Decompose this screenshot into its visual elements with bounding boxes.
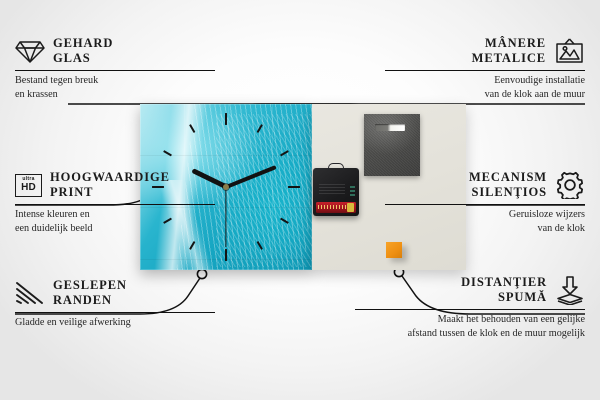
feature-desc-line1: Gladde en veilige afwerking bbox=[15, 316, 215, 330]
feature-header: GEHARD GLAS bbox=[15, 36, 215, 67]
feature-desc-line2: een duidelijk beeld bbox=[15, 222, 215, 236]
feature-title: DISTANŢIER SPUMĂ bbox=[461, 275, 547, 306]
feature-header: GESLEPEN RANDEN bbox=[15, 278, 215, 309]
feature-gehard-glas: GEHARD GLAS Bestand tegen breuk en krass… bbox=[15, 36, 215, 101]
infographic-stage: GEHARD GLAS Bestand tegen breuk en krass… bbox=[0, 0, 600, 400]
feature-header: MECANISM SILENŢIOS bbox=[385, 170, 585, 201]
feature-description: Bestand tegen breuk en krassen bbox=[15, 74, 215, 102]
feature-desc-line1: Bestand tegen breuk bbox=[15, 74, 215, 88]
foam-spacer bbox=[386, 242, 402, 258]
feature-title-line1: MÂNERE bbox=[472, 36, 546, 51]
clock-minute-hand bbox=[225, 165, 276, 189]
feature-desc-line1: Geruisloze wijzers bbox=[385, 208, 585, 222]
feature-title: GESLEPEN RANDEN bbox=[53, 278, 127, 309]
feature-hoogwaardige-print: ultra HD HOOGWAARDIGE PRINT Intense kleu… bbox=[15, 170, 215, 235]
feature-desc-line2: van de klok aan de muur bbox=[385, 88, 585, 102]
mechanism-shaft bbox=[328, 163, 344, 170]
hanger-slot bbox=[375, 124, 405, 131]
feature-description: Gladde en veilige afwerking bbox=[15, 316, 215, 330]
ultra-hd-icon: ultra HD bbox=[15, 174, 42, 197]
feature-title-line2: METALICE bbox=[472, 51, 546, 66]
spacer-layers-icon bbox=[555, 275, 585, 305]
battery bbox=[316, 202, 356, 213]
bevel-lines-icon bbox=[15, 280, 45, 306]
feature-rule bbox=[355, 309, 585, 310]
feature-desc-line1: Intense kleuren en bbox=[15, 208, 215, 222]
feature-header: DISTANŢIER SPUMĂ bbox=[355, 275, 585, 306]
feature-desc-line1: Maakt het behouden van een gelijke bbox=[355, 313, 585, 327]
feature-title-line2: SILENŢIOS bbox=[469, 185, 547, 200]
mechanism-contacts bbox=[350, 184, 355, 196]
feature-title-line2: RANDEN bbox=[53, 293, 127, 308]
feature-title: MECANISM SILENŢIOS bbox=[469, 170, 547, 201]
feature-description: Eenvoudige installatie van de klok aan d… bbox=[385, 74, 585, 102]
ultra-hd-main-label: HD bbox=[21, 183, 36, 193]
feature-title: GEHARD GLAS bbox=[53, 36, 113, 67]
battery-terminal bbox=[347, 203, 354, 212]
feather-sheen-3 bbox=[216, 114, 312, 267]
feature-rule bbox=[15, 312, 215, 313]
feature-header: ultra HD HOOGWAARDIGE PRINT bbox=[15, 170, 215, 201]
feature-desc-line2: en krassen bbox=[15, 88, 215, 102]
metal-hanger-plate bbox=[364, 114, 420, 176]
feature-title: MÂNERE METALICE bbox=[472, 36, 546, 67]
gear-icon bbox=[555, 171, 585, 199]
clock-mechanism bbox=[313, 168, 359, 216]
feature-geslepen-randen: GESLEPEN RANDEN Gladde en veilige afwerk… bbox=[15, 278, 215, 330]
diamond-icon bbox=[15, 38, 45, 64]
feature-description: Intense kleuren en een duidelijk beeld bbox=[15, 208, 215, 236]
feature-title-line1: GESLEPEN bbox=[53, 278, 127, 293]
feature-title-line1: MECANISM bbox=[469, 170, 547, 185]
feature-description: Geruisloze wijzers van de klok bbox=[385, 208, 585, 236]
feature-title-line1: GEHARD bbox=[53, 36, 113, 51]
feature-mecanism-silentios: MECANISM SILENŢIOS Geruisloze wijzers va… bbox=[385, 170, 585, 235]
feature-title: HOOGWAARDIGE PRINT bbox=[50, 170, 170, 201]
feature-rule bbox=[385, 204, 585, 205]
feature-title-line1: DISTANŢIER bbox=[461, 275, 547, 290]
mechanism-label bbox=[319, 182, 345, 194]
feature-manere-metalice: MÂNERE METALICE Eenvoudige installatie v… bbox=[385, 36, 585, 101]
feature-distantier-spuma: DISTANŢIER SPUMĂ Maakt het behouden van … bbox=[355, 275, 585, 340]
feature-desc-line2: van de klok bbox=[385, 222, 585, 236]
feature-title-line2: SPUMĂ bbox=[461, 290, 547, 305]
feature-rule bbox=[15, 70, 215, 71]
feature-title-line2: PRINT bbox=[50, 185, 170, 200]
feature-desc-line2: afstand tussen de klok en de muur mogeli… bbox=[355, 327, 585, 341]
clock-second-hand bbox=[225, 187, 226, 247]
feature-header: MÂNERE METALICE bbox=[385, 36, 585, 67]
picture-hanger-icon bbox=[554, 38, 585, 64]
feature-title-line1: HOOGWAARDIGE bbox=[50, 170, 170, 185]
feature-description: Maakt het behouden van een gelijke afsta… bbox=[355, 313, 585, 341]
feature-rule bbox=[385, 70, 585, 71]
feature-title-line2: GLAS bbox=[53, 51, 113, 66]
feature-desc-line1: Eenvoudige installatie bbox=[385, 74, 585, 88]
battery-stripe bbox=[318, 205, 347, 209]
clock-center-cap bbox=[223, 184, 229, 190]
feature-rule bbox=[15, 204, 215, 205]
